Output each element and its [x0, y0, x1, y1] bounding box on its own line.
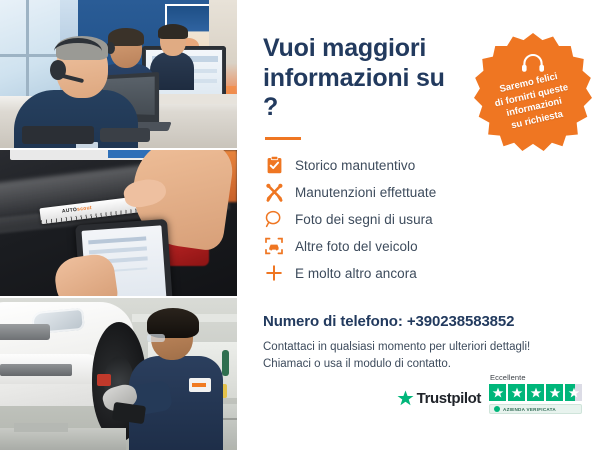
star-filled [546, 384, 563, 401]
phone-label: Numero di telefono: [263, 313, 407, 330]
trustpilot-wordmark: Trustpilot [417, 390, 481, 407]
feature-item-storico: Storico manutentivo [263, 152, 574, 179]
photo-column: AUTOscout [0, 0, 237, 450]
title-divider [265, 137, 301, 140]
feature-item-altre-foto: Altre foto del veicolo [263, 233, 574, 260]
photo-inspection: AUTOscout [0, 150, 237, 299]
promo-card: AUTOscout [0, 0, 600, 450]
verified-label: AZIENDA VERIFICATA [503, 407, 556, 412]
tools-cross-icon [263, 181, 285, 203]
contact-text: Contattaci in qualsiasi momento per ulte… [263, 339, 574, 374]
star-filled [527, 384, 544, 401]
trustpilot-widget[interactable]: Trustpilot Eccellente [397, 373, 582, 414]
phone-block: Numero di telefono: +390238583852 Contat… [263, 313, 574, 374]
phone-number[interactable]: +390238583852 [407, 313, 515, 330]
feature-label: Storico manutentivo [295, 158, 415, 173]
feature-label: Manutenzioni effettuate [295, 185, 436, 200]
verified-badge: AZIENDA VERIFICATA [489, 404, 582, 414]
clipboard-check-icon [263, 154, 285, 176]
content-panel: Vuoi maggiori informazioni su ? Saremo f… [237, 0, 600, 450]
rating-label: Eccellente [490, 373, 526, 382]
star-filled [489, 384, 506, 401]
feature-label: Foto dei segni di usura [295, 212, 433, 227]
magnifier-icon [263, 208, 285, 230]
phone-line: Numero di telefono: +390238583852 [263, 313, 574, 330]
star-filled [508, 384, 525, 401]
star-half [565, 384, 582, 401]
feature-item-altro-ancora: E molto altro ancora [263, 260, 574, 287]
headset-icon [521, 53, 545, 73]
verified-check-icon [494, 406, 500, 412]
page-title: Vuoi maggiori informazioni su ? [263, 34, 463, 123]
photo-mechanic-wheel [0, 298, 237, 450]
feature-list: Storico manutentivo Manutenzioni effettu… [263, 152, 574, 287]
trustpilot-star-icon [397, 390, 414, 407]
trustpilot-rating: Eccellente [489, 373, 582, 414]
feature-label: E molto altro ancora [295, 266, 417, 281]
feature-item-manutenzioni: Manutenzioni effettuate [263, 179, 574, 206]
plus-icon [263, 262, 285, 284]
callout-badge: Saremo felici di fornirti queste informa… [474, 33, 592, 151]
car-frame-icon [263, 235, 285, 257]
star-rating [489, 384, 582, 401]
feature-label: Altre foto del veicolo [295, 239, 418, 254]
photo-call-center [0, 0, 237, 150]
badge-text: Saremo felici di fornirti queste informa… [481, 67, 586, 137]
trustpilot-logo: Trustpilot [397, 390, 481, 414]
feature-item-foto-usura: Foto dei segni di usura [263, 206, 574, 233]
